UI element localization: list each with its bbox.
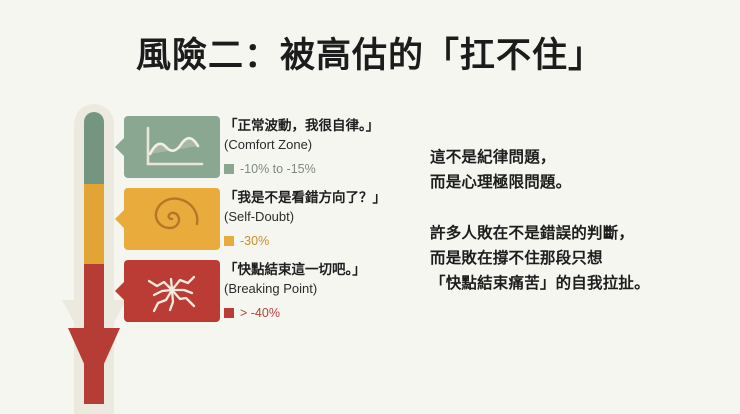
commentary-line: 而是敗在撐不住那段只想 <box>430 246 730 271</box>
commentary-paragraph-one: 這不是紀律問題， 而是心理極限問題。 <box>430 145 730 195</box>
spiral-icon <box>124 188 220 250</box>
stage-panel-comfort[interactable] <box>124 116 220 178</box>
stage-label-breaking: 「快點結束這一切吧。」 (Breaking Point) > -40% <box>224 261 366 320</box>
legend-value: -30% <box>240 234 269 248</box>
legend-value: -10% to -15% <box>240 162 316 176</box>
stage-quote-cn: 「正常波動，我很自律。」 <box>224 117 379 135</box>
page-title: 風險二：被高估的「扛不住」 <box>0 27 740 78</box>
commentary-line: 這不是紀律問題， <box>430 145 730 170</box>
thermometer-segment-comfort <box>84 112 104 184</box>
legend-row-doubt: -30% <box>224 234 386 248</box>
stage-quote-cn: 「我是不是看錯方向了？」 <box>224 189 386 207</box>
commentary-line: 許多人敗在不是錯誤的判斷， <box>430 221 730 246</box>
stage-quote-en: (Comfort Zone) <box>224 136 379 154</box>
stage-quote-en: (Self-Doubt) <box>224 208 386 226</box>
commentary-line: 「快點結束痛苦」的自我拉扯。 <box>430 271 730 296</box>
stage-panel-breaking[interactable] <box>124 260 220 322</box>
legend-swatch-icon <box>224 308 234 318</box>
legend-row-breaking: > -40% <box>224 306 366 320</box>
commentary-block: 這不是紀律問題， 而是心理極限問題。 許多人敗在不是錯誤的判斷， 而是敗在撐不住… <box>430 145 730 297</box>
stage-quote-cn: 「快點結束這一切吧。」 <box>224 261 366 279</box>
commentary-paragraph-two: 許多人敗在不是錯誤的判斷， 而是敗在撐不住那段只想 「快點結束痛苦」的自我拉扯。 <box>430 221 730 296</box>
stage-label-doubt: 「我是不是看錯方向了？」 (Self-Doubt) -30% <box>224 189 386 248</box>
legend-value: > -40% <box>240 306 280 320</box>
thermometer-segment-breaking <box>84 264 104 310</box>
legend-swatch-icon <box>224 164 234 174</box>
stage-quote-en: (Breaking Point) <box>224 280 366 298</box>
stage-panel-doubt[interactable] <box>124 188 220 250</box>
thermometer-segment-doubt <box>84 184 104 264</box>
stage-label-comfort: 「正常波動，我很自律。」 (Comfort Zone) -10% to -15% <box>224 117 379 176</box>
wave-chart-icon <box>124 116 220 178</box>
thermometer-tube <box>84 112 104 310</box>
commentary-line: 而是心理極限問題。 <box>430 170 730 195</box>
legend-swatch-icon <box>224 236 234 246</box>
down-arrow-icon <box>68 328 120 386</box>
shatter-crack-icon <box>124 260 220 322</box>
legend-row-comfort: -10% to -15% <box>224 162 379 176</box>
